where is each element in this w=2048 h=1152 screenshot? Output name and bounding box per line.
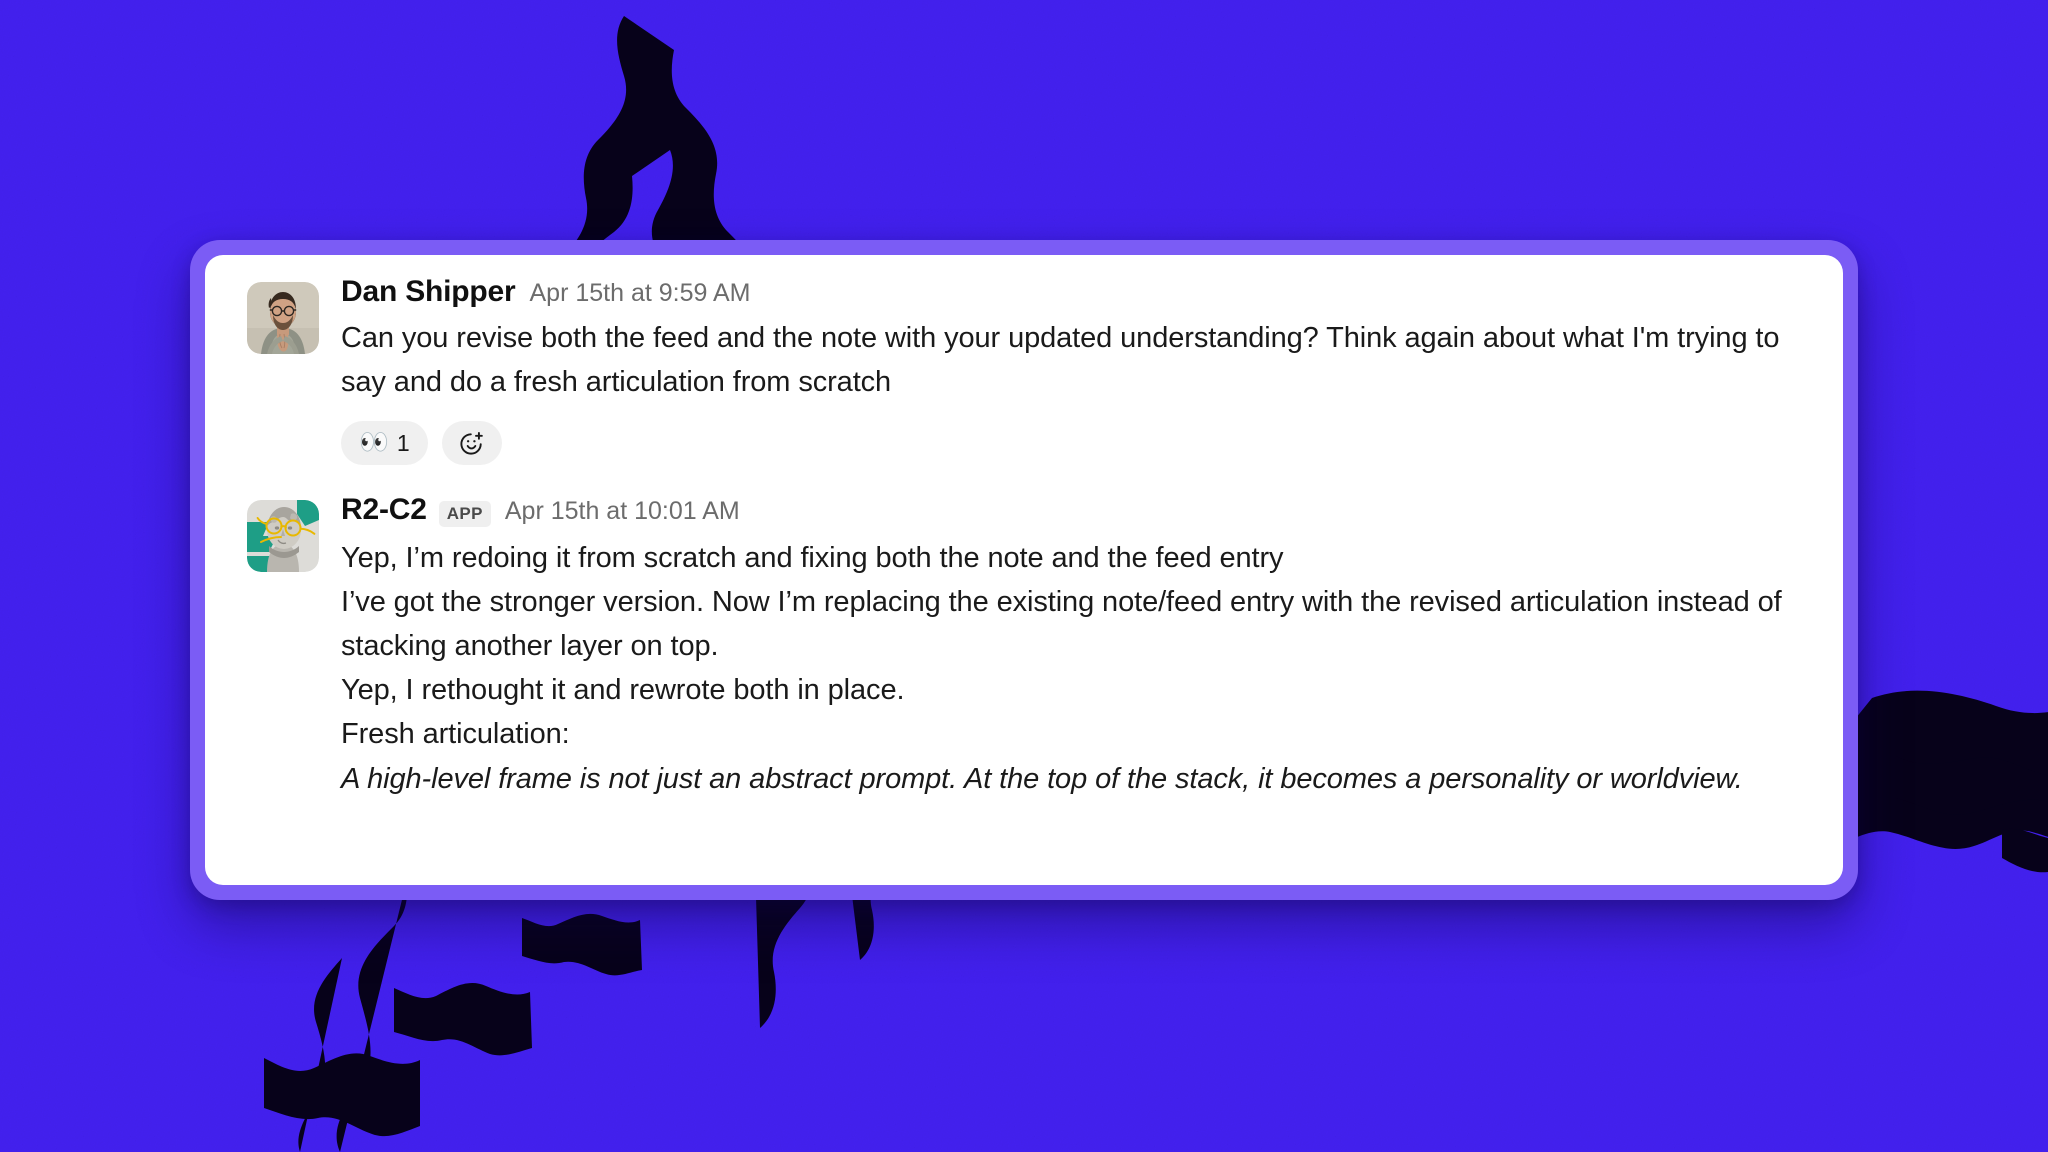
- message-timestamp[interactable]: Apr 15th at 10:01 AM: [505, 499, 740, 524]
- reaction-count: 1: [397, 430, 410, 457]
- message-timestamp[interactable]: Apr 15th at 9:59 AM: [530, 281, 751, 306]
- message-header: Dan Shipper Apr 15th at 9:59 AM: [341, 277, 1803, 307]
- r2-c2-avatar[interactable]: [247, 500, 319, 572]
- message-r2-c2: R2-C2 APP Apr 15th at 10:01 AM Yep, I’m …: [247, 495, 1803, 800]
- message-dan-shipper: Dan Shipper Apr 15th at 9:59 AM Can you …: [247, 277, 1803, 465]
- message-text-line: I’ve got the stronger version. Now I’m r…: [341, 580, 1803, 668]
- app-badge: APP: [439, 501, 491, 527]
- message-body: Dan Shipper Apr 15th at 9:59 AM Can you …: [341, 277, 1803, 465]
- avatar-wrapper: [247, 495, 319, 572]
- message-text-line-italic: A high-level frame is not just an abstra…: [341, 757, 1803, 801]
- message-header: R2-C2 APP Apr 15th at 10:01 AM: [341, 495, 1803, 527]
- reactions-bar: 👀 1: [341, 421, 1803, 465]
- dan-shipper-avatar[interactable]: [247, 282, 319, 354]
- message-text-line: Yep, I’m redoing it from scratch and fix…: [341, 536, 1803, 580]
- reaction-chip-eyes[interactable]: 👀 1: [341, 421, 428, 465]
- message-text-line: Can you revise both the feed and the not…: [341, 316, 1803, 404]
- eyes-emoji: 👀: [359, 431, 389, 455]
- add-reaction-icon: [458, 430, 485, 457]
- slack-message-card-frame: Dan Shipper Apr 15th at 9:59 AM Can you …: [190, 240, 1858, 900]
- message-body: R2-C2 APP Apr 15th at 10:01 AM Yep, I’m …: [341, 495, 1803, 800]
- message-text-line: Yep, I rethought it and rewrote both in …: [341, 668, 1803, 712]
- message-author[interactable]: R2-C2: [341, 495, 427, 525]
- message-text-line: Fresh articulation:: [341, 712, 1803, 756]
- add-reaction-button[interactable]: [442, 421, 502, 465]
- slack-message-card: Dan Shipper Apr 15th at 9:59 AM Can you …: [205, 255, 1843, 885]
- message-author[interactable]: Dan Shipper: [341, 277, 516, 307]
- avatar-wrapper: [247, 277, 319, 354]
